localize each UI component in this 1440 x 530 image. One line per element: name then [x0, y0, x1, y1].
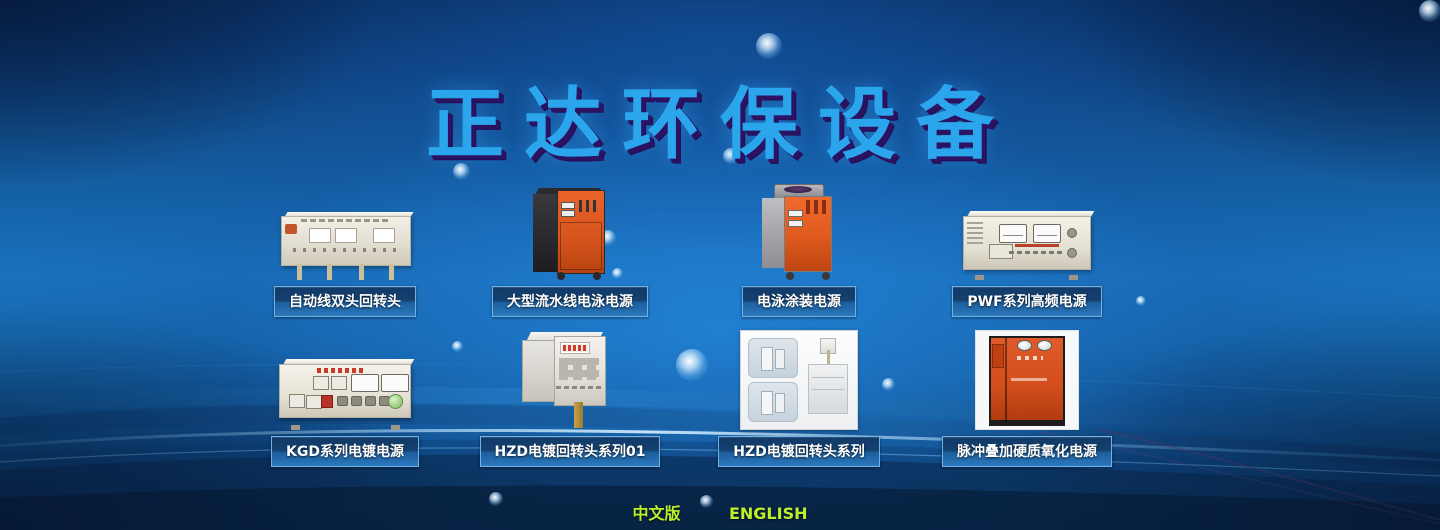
- orange-black-cabinet-icon: [533, 188, 607, 280]
- page-title: 正达环保设备: [0, 62, 1440, 174]
- product-item-pwf-high-frequency-supply[interactable]: PWF系列高频电源: [912, 180, 1142, 317]
- language-link-chinese[interactable]: 中文版: [633, 500, 681, 524]
- beige-cabinet-icon: [275, 208, 415, 280]
- product-label[interactable]: HZD电镀回转头系列: [718, 436, 880, 467]
- product-row-2: KGD系列电镀电源 HZD电镀回转头系列01: [0, 330, 1440, 480]
- product-row-1: 自动线双头回转头 大型流水线电泳电源: [0, 180, 1440, 330]
- product-thumbnail: [455, 330, 685, 430]
- product-item-kgd-plating-supply[interactable]: KGD系列电镀电源: [230, 330, 460, 467]
- product-item-auto-line-rotary-head[interactable]: 自动线双头回转头: [230, 180, 460, 317]
- page-root: 正达环保设备: [0, 0, 1440, 530]
- product-grid: 自动线双头回转头 大型流水线电泳电源: [0, 180, 1440, 480]
- product-label[interactable]: KGD系列电镀电源: [271, 436, 419, 467]
- product-thumbnail: [684, 330, 914, 430]
- product-label[interactable]: PWF系列高频电源: [952, 286, 1101, 317]
- product-item-pulse-hard-anodizing-supply[interactable]: 脉冲叠加硬质氧化电源: [912, 330, 1142, 467]
- product-label[interactable]: 自动线双头回转头: [274, 286, 416, 317]
- product-item-hzd-rotary-head-series[interactable]: HZD电镀回转头系列: [684, 330, 914, 467]
- product-thumbnail: [230, 330, 460, 430]
- kgd-bench-supply-icon: [273, 352, 417, 430]
- bokeh-orb: [1419, 0, 1440, 22]
- product-thumbnail: [912, 330, 1142, 430]
- bokeh-orb: [756, 33, 782, 59]
- product-thumbnail: [684, 180, 914, 280]
- product-thumbnail: [455, 180, 685, 280]
- product-label[interactable]: HZD电镀回转头系列01: [480, 436, 661, 467]
- bench-power-supply-icon: [957, 206, 1097, 280]
- red-double-door-cabinet-icon: [975, 330, 1079, 430]
- product-thumbnail: [912, 180, 1142, 280]
- hzd-series-composite-icon: [740, 330, 858, 430]
- hzd-rotary-head-icon: [522, 326, 618, 430]
- product-label[interactable]: 电泳涂装电源: [742, 286, 856, 317]
- product-item-hzd-rotary-head-01[interactable]: HZD电镀回转头系列01: [455, 330, 685, 467]
- language-switcher: 中文版 ENGLISH: [0, 500, 1440, 524]
- product-thumbnail: [230, 180, 460, 280]
- grey-orange-cabinet-icon: [760, 184, 838, 280]
- product-label[interactable]: 大型流水线电泳电源: [492, 286, 648, 317]
- product-label[interactable]: 脉冲叠加硬质氧化电源: [942, 436, 1112, 467]
- language-link-english[interactable]: ENGLISH: [729, 504, 808, 523]
- product-item-coating-supply[interactable]: 电泳涂装电源: [684, 180, 914, 317]
- product-item-line-electrophoresis-supply[interactable]: 大型流水线电泳电源: [455, 180, 685, 317]
